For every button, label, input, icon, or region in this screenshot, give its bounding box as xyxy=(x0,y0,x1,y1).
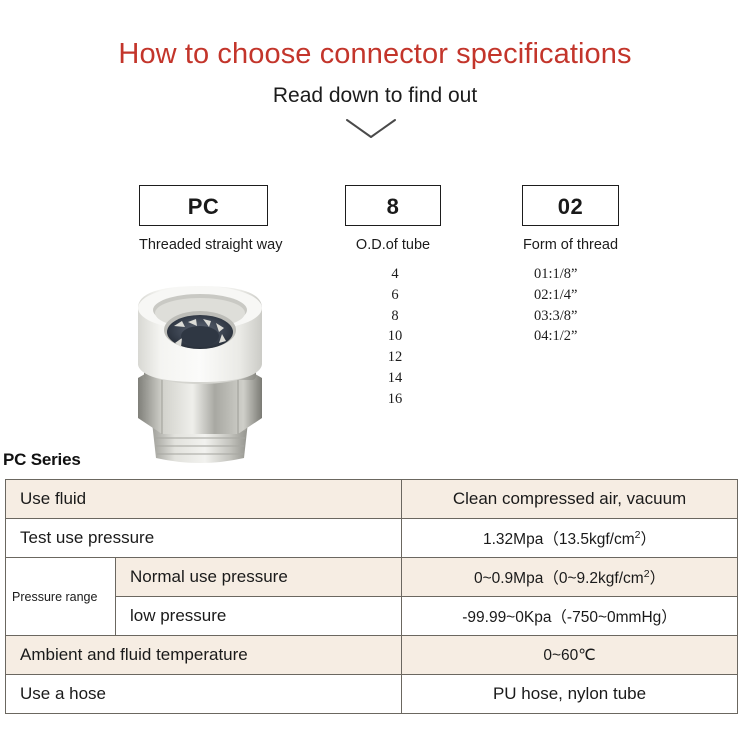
code-box-od: 8 xyxy=(345,185,441,226)
list-item: 16 xyxy=(349,389,441,410)
cell-value-normal-pressure: 0~0.9Mpa（0~9.2kgf/cm2） xyxy=(402,558,738,597)
list-item: 12 xyxy=(349,347,441,368)
list-item: 02:1/4” xyxy=(534,285,619,306)
list-item: 4 xyxy=(349,264,441,285)
series-label: PC Series xyxy=(3,450,81,470)
table-row: Use a hose PU hose, nylon tube xyxy=(6,675,738,714)
table-row: Test use pressure 1.32Mpa（13.5kgf/cm2） xyxy=(6,519,738,558)
chevron-down-icon xyxy=(345,118,397,140)
cell-label-pressure-range: Pressure range xyxy=(6,558,116,636)
specification-table: Use fluid Clean compressed air, vacuum T… xyxy=(5,479,738,714)
cell-label-test-pressure: Test use pressure xyxy=(6,519,402,558)
code-box-series: PC xyxy=(139,185,268,226)
page-subtitle: Read down to find out xyxy=(0,84,750,108)
list-item: 01:1/8” xyxy=(534,264,619,285)
page-title: How to choose connector specifications xyxy=(0,38,750,71)
list-item: 04:1/2” xyxy=(534,326,619,347)
code-option-list-od: 4 6 8 10 12 14 16 xyxy=(345,264,441,410)
cell-label-use-fluid: Use fluid xyxy=(6,480,402,519)
code-option-list-thread: 01:1/8” 02:1/4” 03:3/8” 04:1/2” xyxy=(522,264,619,347)
product-photo xyxy=(104,268,296,464)
list-item: 10 xyxy=(349,326,441,347)
collet-bore xyxy=(164,311,236,349)
cell-value-temperature: 0~60℃ xyxy=(402,636,738,675)
cell-value-low-pressure: -99.99~0Kpa（-750~0mmHg） xyxy=(402,597,738,636)
code-caption-od: O.D.of tube xyxy=(345,237,441,253)
cell-label-normal-pressure: Normal use pressure xyxy=(116,558,402,597)
code-caption-series: Threaded straight way xyxy=(139,237,268,253)
cell-value-hose: PU hose, nylon tube xyxy=(402,675,738,714)
cell-value-test-pressure: 1.32Mpa（13.5kgf/cm2） xyxy=(402,519,738,558)
cell-label-low-pressure: low pressure xyxy=(116,597,402,636)
code-box-thread: 02 xyxy=(522,185,619,226)
list-item: 8 xyxy=(349,306,441,327)
cell-label-temperature: Ambient and fluid temperature xyxy=(6,636,402,675)
table-row: Use fluid Clean compressed air, vacuum xyxy=(6,480,738,519)
code-column-series: PC Threaded straight way xyxy=(139,185,268,253)
list-item: 6 xyxy=(349,285,441,306)
list-item: 03:3/8” xyxy=(534,306,619,327)
table-row: Ambient and fluid temperature 0~60℃ xyxy=(6,636,738,675)
table-row: Pressure range Normal use pressure 0~0.9… xyxy=(6,558,738,597)
code-caption-thread: Form of thread xyxy=(522,237,619,253)
list-item: 14 xyxy=(349,368,441,389)
cell-value-use-fluid: Clean compressed air, vacuum xyxy=(402,480,738,519)
table-row: low pressure -99.99~0Kpa（-750~0mmHg） xyxy=(6,597,738,636)
code-column-od: 8 O.D.of tube 4 6 8 10 12 14 16 xyxy=(345,185,441,410)
cell-label-hose: Use a hose xyxy=(6,675,402,714)
code-column-thread: 02 Form of thread 01:1/8” 02:1/4” 03:3/8… xyxy=(522,185,619,347)
